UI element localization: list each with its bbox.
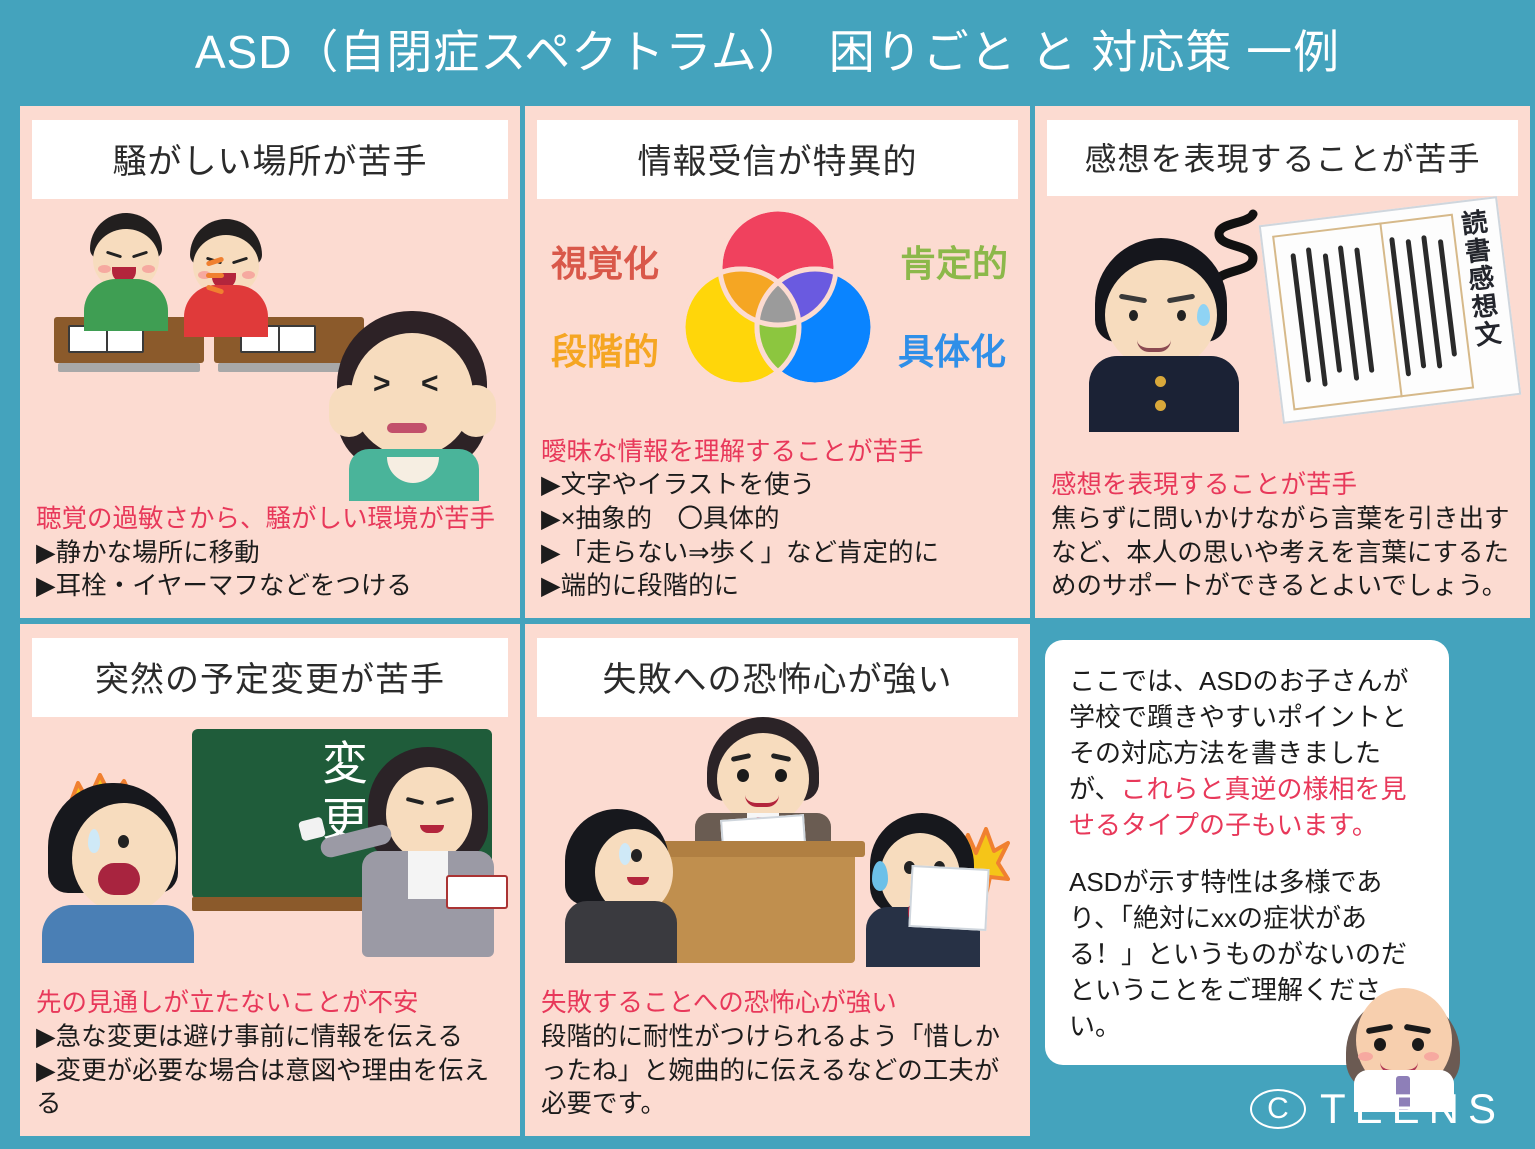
card-highlight: 先の見通しが立たないことが不安 <box>36 987 506 1021</box>
card-title: 失敗への恐怖心が強い <box>537 638 1018 717</box>
venn-label-visualize: 視覚化 <box>551 235 659 287</box>
card-bullet: 段階的に耐性がつけられるよう「惜しかったね」と婉曲的に伝えるなどの工夫が必要です… <box>541 1023 1000 1118</box>
card-title: 騒がしい場所が苦手 <box>32 120 508 199</box>
card-highlight: 聴覚の過敏さから、騒がしい環境が苦手 <box>36 503 506 537</box>
card-bullet: 焦らずに問いかけながら言葉を引き出すなど、本人の思いや考えを言葉にするためのサポ… <box>1051 505 1510 600</box>
card-bullet: ▶端的に段階的に <box>541 570 1016 604</box>
illustration-blackboard-schedule-change: 変更 <box>32 717 508 987</box>
teacher-pointing <box>354 747 504 957</box>
card-highlight: 感想を表現することが苦手 <box>1051 469 1516 503</box>
card-body: 先の見通しが立たないことが不安 ▶急な変更は避け事前に情報を伝える ▶変更が必要… <box>32 987 508 1126</box>
illustration-boy-with-book-report: 読書感想文 <box>1047 196 1518 469</box>
card-highlight: 失敗することへの恐怖心が強い <box>541 987 1016 1021</box>
girl-covering-ears: > < <box>325 311 500 501</box>
card-bullet: ▶「走らない⇒歩く」など肯定的に <box>541 537 1016 571</box>
card-title: 感想を表現することが苦手 <box>1047 120 1518 196</box>
student-left <box>565 809 681 959</box>
noise-spark-icon <box>206 259 232 299</box>
logo-wordmark: TEENS <box>1320 1085 1505 1133</box>
venn-label-stepwise: 段階的 <box>551 323 659 375</box>
card-sudden-schedule-change: 突然の予定変更が苦手 変更 <box>20 624 520 1136</box>
illustration-teacher-returning-papers <box>537 717 1018 987</box>
illustration-venn-diagram: 視覚化 肯定的 段階的 具体化 <box>537 199 1018 436</box>
card-bullet: ▶急な変更は避け事前に情報を伝える <box>36 1021 506 1055</box>
book-icon <box>446 875 508 909</box>
cards-grid: 騒がしい場所が苦手 <box>20 106 1520 1136</box>
venn-diagram-graphic <box>663 205 893 395</box>
card-information-reception: 情報受信が特異的 視覚化 肯定的 段階的 具体化 <box>525 106 1030 618</box>
page-title: ASD（自閉症スペクトラム） 困りごと と 対応策 一例 <box>0 0 1535 100</box>
card-bullet: ▶静かな場所に移動 <box>36 537 506 571</box>
podium <box>655 853 855 963</box>
card-body: 感想を表現することが苦手 焦らずに問いかけながら言葉を引き出すなど、本人の思いや… <box>1047 469 1518 608</box>
note-panel: ここでは、ASDのお子さんが学校で躓きやすいポイントとその対応方法を書きましたが… <box>1035 624 1530 1136</box>
test-paper <box>908 865 989 931</box>
venn-label-concrete: 具体化 <box>898 323 1006 375</box>
card-title: 情報受信が特異的 <box>537 120 1018 199</box>
boy-sad <box>1085 230 1255 430</box>
card-highlight: 曖昧な情報を理解することが苦手 <box>541 436 1016 470</box>
card-body: 失敗することへの恐怖心が強い 段階的に耐性がつけられるよう「惜しかったね」と婉曲… <box>537 987 1018 1126</box>
venn-label-positive: 肯定的 <box>900 235 1008 287</box>
card-title: 突然の予定変更が苦手 <box>32 638 508 717</box>
card-expressing-impressions: 感想を表現することが苦手 <box>1035 106 1530 618</box>
card-body: 曖昧な情報を理解することが苦手 ▶文字やイラストを使う ▶×抽象的 〇具体的 ▶… <box>537 436 1018 608</box>
illustration-classroom-noisy-kids: > < <box>32 199 508 503</box>
card-bullet: ▶文字やイラストを使う <box>541 469 1016 503</box>
note-paragraph-1-red: これらと真逆の様相を見せるタイプの子もいます。 <box>1069 774 1407 840</box>
card-bullet: ▶×抽象的 〇具体的 <box>541 503 1016 537</box>
book-report-paper: 読書感想文 <box>1259 196 1522 424</box>
card-body: 聴覚の過敏さから、騒がしい環境が苦手 ▶静かな場所に移動 ▶耳栓・イヤーマフなど… <box>32 503 508 608</box>
copyright-c-icon: C <box>1250 1089 1306 1129</box>
boy-upset <box>42 777 202 957</box>
card-noisy-places: 騒がしい場所が苦手 <box>20 106 520 618</box>
teens-logo: C TEENS <box>1250 1085 1505 1133</box>
card-fear-of-failure: 失敗への恐怖心が強い <box>525 624 1030 1136</box>
card-bullet: ▶変更が必要な場合は意図や理由を伝える <box>36 1055 506 1122</box>
card-bullet: ▶耳栓・イヤーマフなどをつける <box>36 570 506 604</box>
